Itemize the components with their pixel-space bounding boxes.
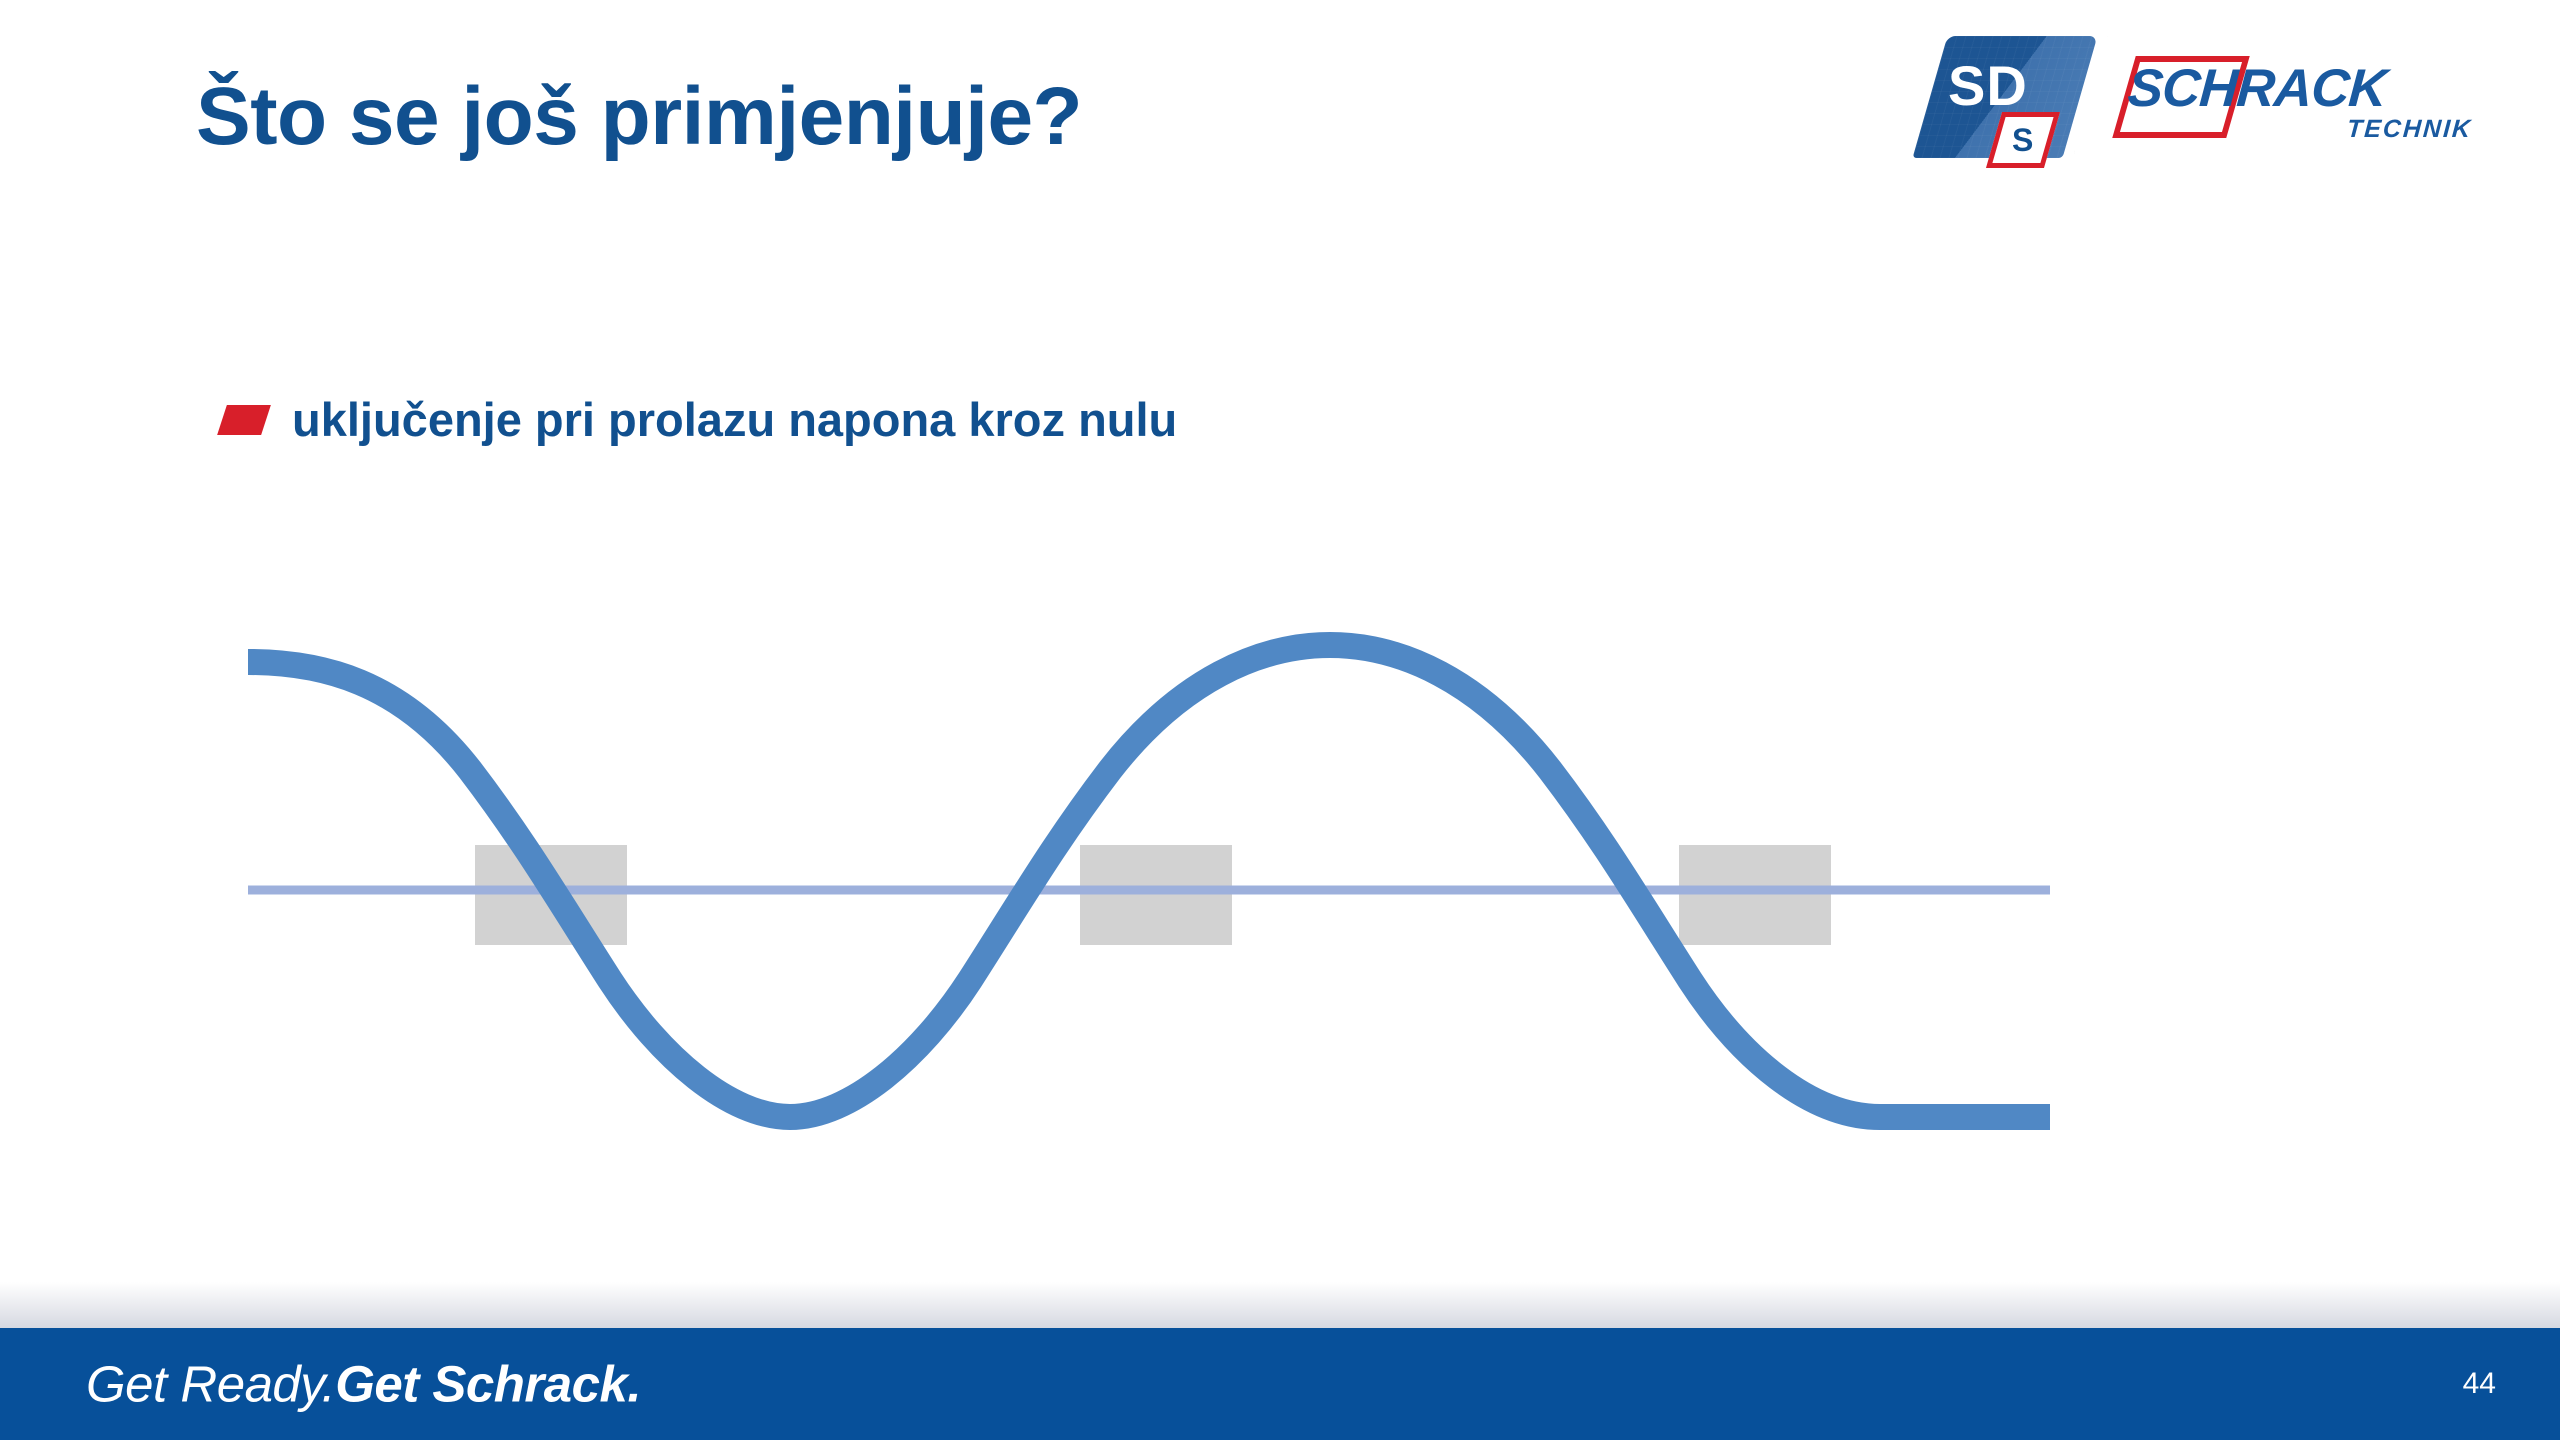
footer-shadow xyxy=(0,1282,2560,1328)
footer-tagline: Get Ready.Get Schrack. xyxy=(86,1359,641,1410)
bullet-list-item: uključenje pri prolazu napona kroz nulu xyxy=(222,396,1177,443)
footer-tagline-bold: Get Schrack. xyxy=(335,1356,641,1413)
bullet-item-label: uključenje pri prolazu napona kroz nulu xyxy=(292,396,1177,443)
sds-logo-s-badge-text: S xyxy=(2012,124,2033,156)
zero-crossing-highlight-box xyxy=(1080,845,1232,945)
logo-group: SD S SCHRACK TECHNIK xyxy=(1930,36,2524,176)
slide: Što se još primjenjuje? uključenje pri p… xyxy=(0,0,2560,1440)
page-number: 44 xyxy=(2463,1369,2496,1399)
schrack-technik-logo: SCHRACK TECHNIK xyxy=(2074,36,2524,154)
schrack-logo-lead-letter: S xyxy=(2126,59,2164,118)
bullet-marker-icon xyxy=(217,405,271,435)
page-title: Što se još primjenjuje? xyxy=(196,72,1082,162)
footer-tagline-light: Get Ready. xyxy=(86,1356,335,1413)
schrack-logo-wordmark-rest: CHRACK xyxy=(2160,59,2388,118)
schrack-logo-mark: SCHRACK TECHNIK xyxy=(2116,52,2482,138)
sds-logo-text: SD xyxy=(1948,58,2028,114)
waveform-figure xyxy=(230,620,2070,1160)
schrack-logo-wordmark: SCHRACK xyxy=(2126,62,2388,115)
zero-crossing-highlight-box xyxy=(1679,845,1831,945)
footer-bar: Get Ready.Get Schrack. 44 xyxy=(0,1328,2560,1440)
sds-logo: SD S xyxy=(1930,36,2080,162)
waveform-chart xyxy=(230,620,2070,1160)
schrack-logo-subtitle: TECHNIK xyxy=(2346,117,2473,142)
